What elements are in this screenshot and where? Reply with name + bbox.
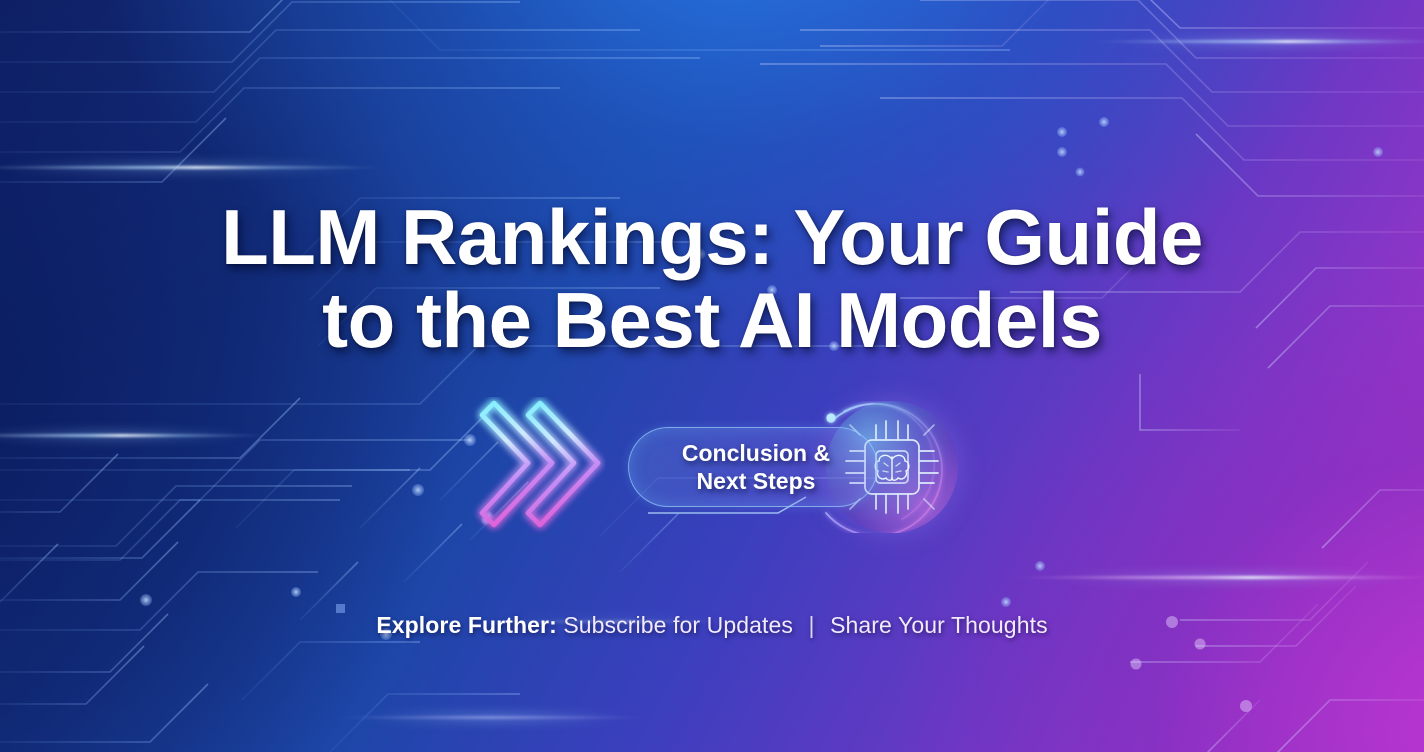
slide-canvas: LLM Rankings: Your Guide to the Best AI …: [0, 0, 1424, 752]
footer-lead: Explore Further:: [376, 612, 557, 638]
footer-separator: |: [809, 612, 815, 639]
subscribe-link[interactable]: Subscribe for Updates: [563, 612, 793, 638]
conclusion-badge[interactable]: Conclusion & Next Steps: [628, 401, 958, 533]
title-line-1: LLM Rankings: Your Guide: [221, 193, 1203, 281]
badge-label-line-1: Conclusion &: [682, 440, 830, 466]
page-title: LLM Rankings: Your Guide to the Best AI …: [122, 196, 1302, 363]
badge-row: Conclusion & Next Steps: [466, 397, 958, 537]
footer-cta: Explore Further: Subscribe for Updates |…: [0, 612, 1424, 639]
badge-pill[interactable]: Conclusion & Next Steps: [628, 427, 878, 507]
badge-label: Conclusion & Next Steps: [676, 439, 830, 495]
badge-label-line-2: Next Steps: [697, 468, 816, 494]
double-chevron-right-icon: [466, 397, 606, 537]
share-link[interactable]: Share Your Thoughts: [830, 612, 1048, 638]
title-line-2: to the Best AI Models: [122, 279, 1302, 362]
